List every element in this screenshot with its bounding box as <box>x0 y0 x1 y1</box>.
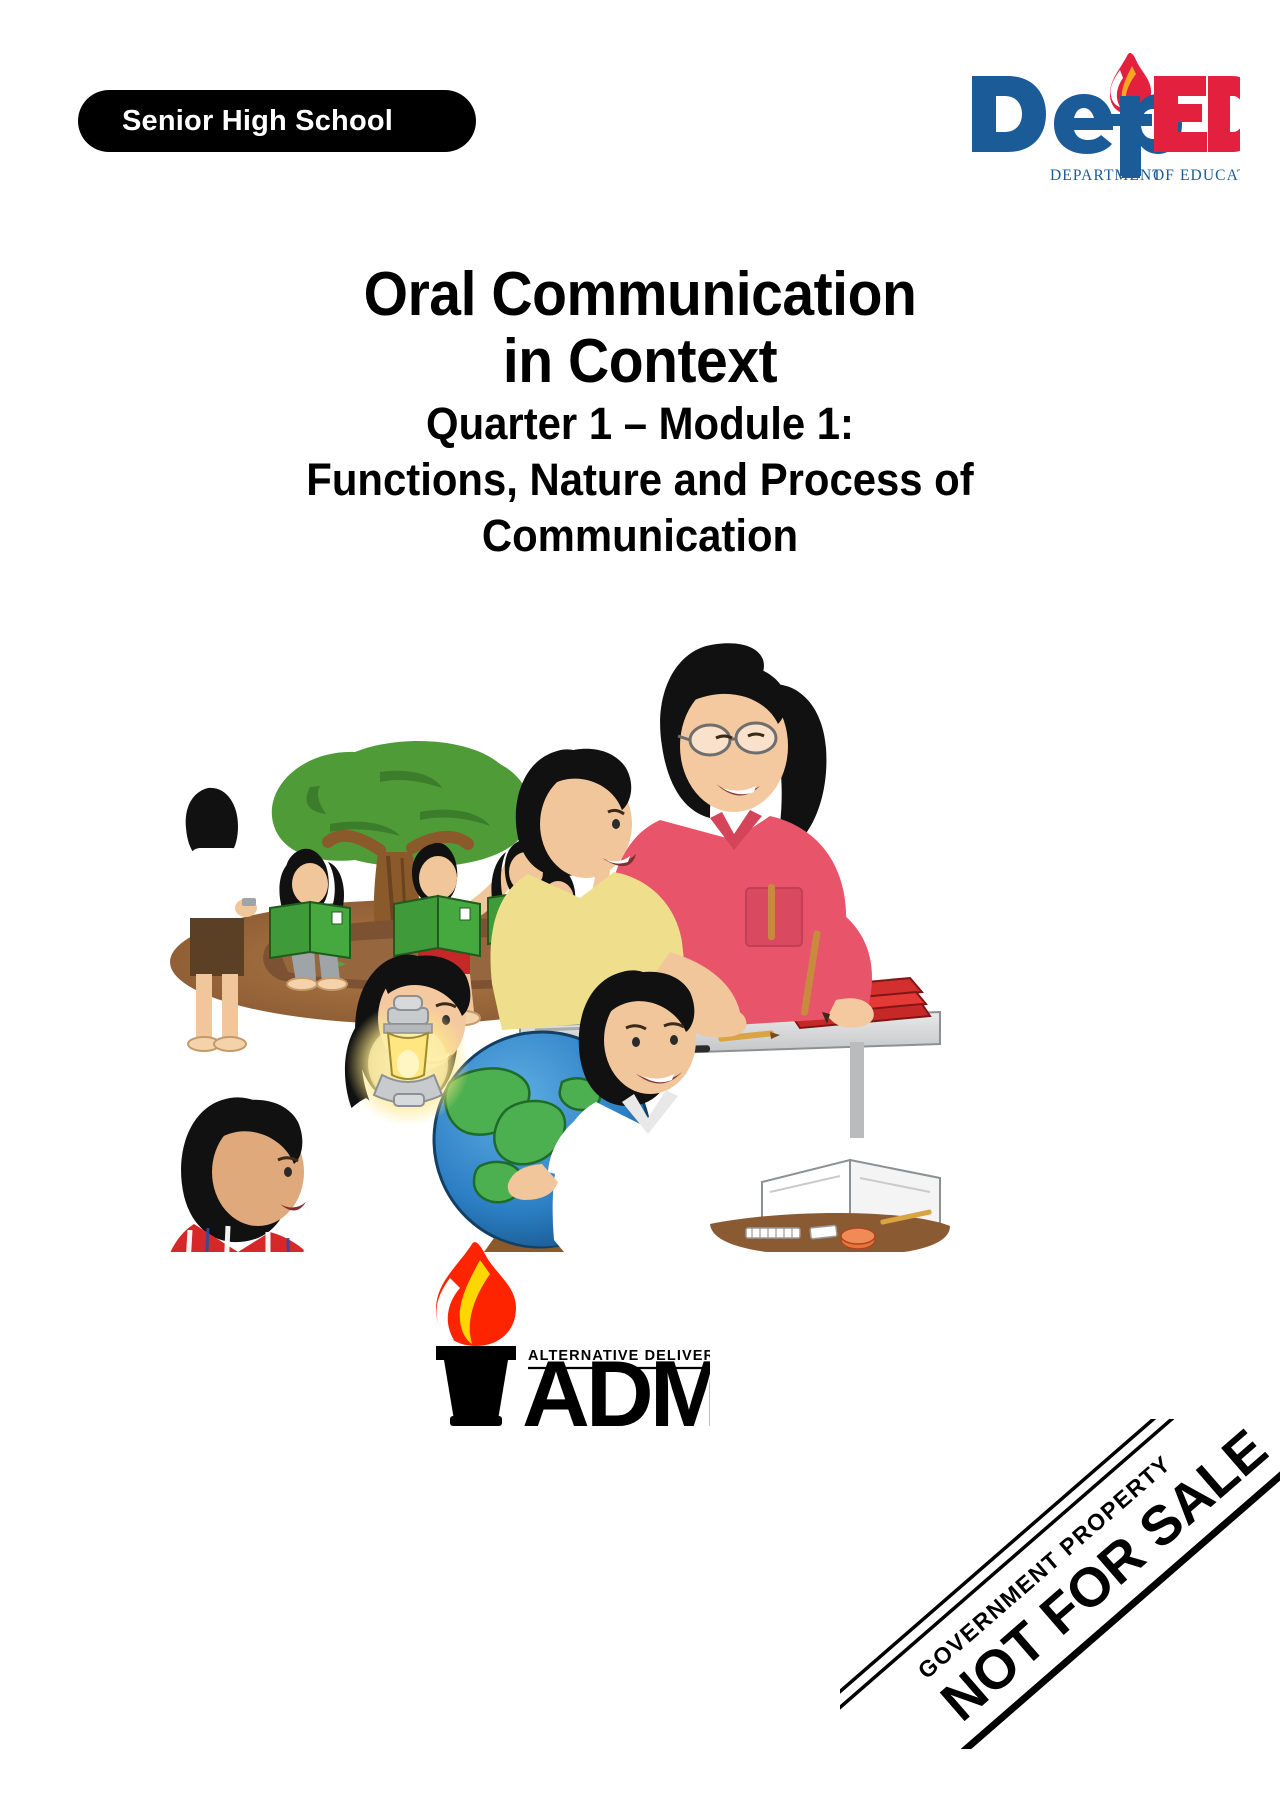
subtitle-topic-line-2: Communication <box>45 508 1235 564</box>
senior-high-school-label: Senior High School <box>78 105 393 138</box>
senior-high-school-badge: Senior High School <box>78 90 476 152</box>
title-line-1: Oral Communication <box>51 262 1229 329</box>
svg-text:OF EDUCATION: OF EDUCATION <box>1153 167 1240 184</box>
banner-line-large: NOT FOR SALE <box>929 1419 1279 1733</box>
deped-tagline: DEPARTMENT <box>1050 167 1163 184</box>
green-book <box>394 896 480 956</box>
title-block: Oral Communication in Context Quarter 1 … <box>0 262 1280 565</box>
deped-logo: DEPARTMENT OF EDUCATION DEPARTMENT OF ED… <box>950 40 1240 185</box>
government-property-banner: GOVERNMENT PROPERTY NOT FOR SALE GOVERNM… <box>840 1419 1280 1749</box>
subtitle-topic-line-1: Functions, Nature and Process of <box>45 452 1235 508</box>
subtitle-quarter-module: Quarter 1 – Module 1: <box>45 396 1235 452</box>
banner-line-small: GOVERNMENT PROPERTY <box>913 1450 1176 1684</box>
cover-illustration: 1+1=2 2+2=4 4+4=8 8+8=16 <box>150 612 950 1252</box>
module-cover-page: Senior High School <box>0 0 1280 1809</box>
adm-flame-icon <box>436 1242 516 1346</box>
green-book <box>270 902 350 958</box>
adm-torch-icon <box>436 1346 516 1426</box>
adm-logo: ALTERNATIVE DELIVERY MODE ADM ADM <box>410 1238 710 1428</box>
deped-logo-text: DEPARTMENT OF EDUCATION <box>1240 40 1241 41</box>
adm-acronym: ADM <box>522 1341 710 1428</box>
title-line-2: in Context <box>51 329 1229 396</box>
deped-wordmark-ed <box>1154 76 1240 152</box>
header: Senior High School <box>0 0 1280 210</box>
